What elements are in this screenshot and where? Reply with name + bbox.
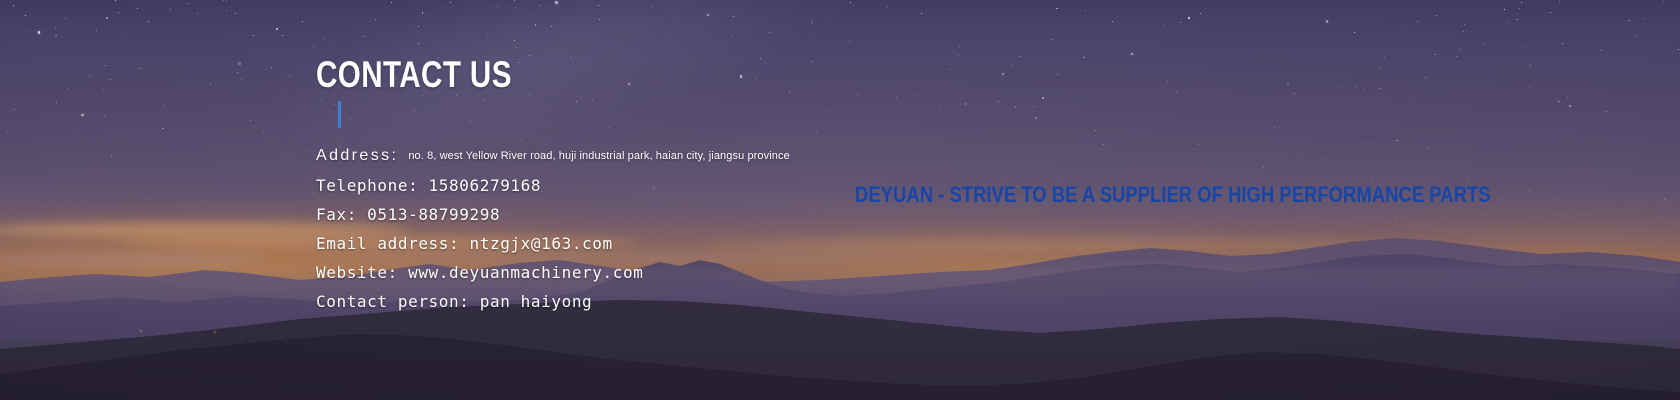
page-title: CONTACT US: [316, 56, 512, 93]
contact-line-contact-person: Contact person: pan haiyong: [316, 287, 1076, 316]
address-value: no. 8, west Yellow River road, huji indu…: [408, 150, 789, 162]
contact-line-address: Address:no. 8, west Yellow River road, h…: [316, 141, 1076, 171]
title-accent-bar: [338, 101, 341, 128]
banner-content: CONTACT US Address:no. 8, west Yellow Ri…: [0, 0, 1680, 400]
contact-details-list: Address:no. 8, west Yellow River road, h…: [316, 141, 1076, 316]
contact-line-website[interactable]: Website: www.deyuanmachinery.com: [316, 258, 1076, 287]
address-label: Address:: [316, 147, 398, 164]
contact-line-email[interactable]: Email address: ntzgjx@163.com: [316, 229, 1076, 258]
contact-banner: CONTACT US Address:no. 8, west Yellow Ri…: [0, 0, 1680, 400]
company-tagline: DEYUAN - STRIVE TO BE A SUPPLIER OF HIGH…: [855, 184, 1491, 206]
